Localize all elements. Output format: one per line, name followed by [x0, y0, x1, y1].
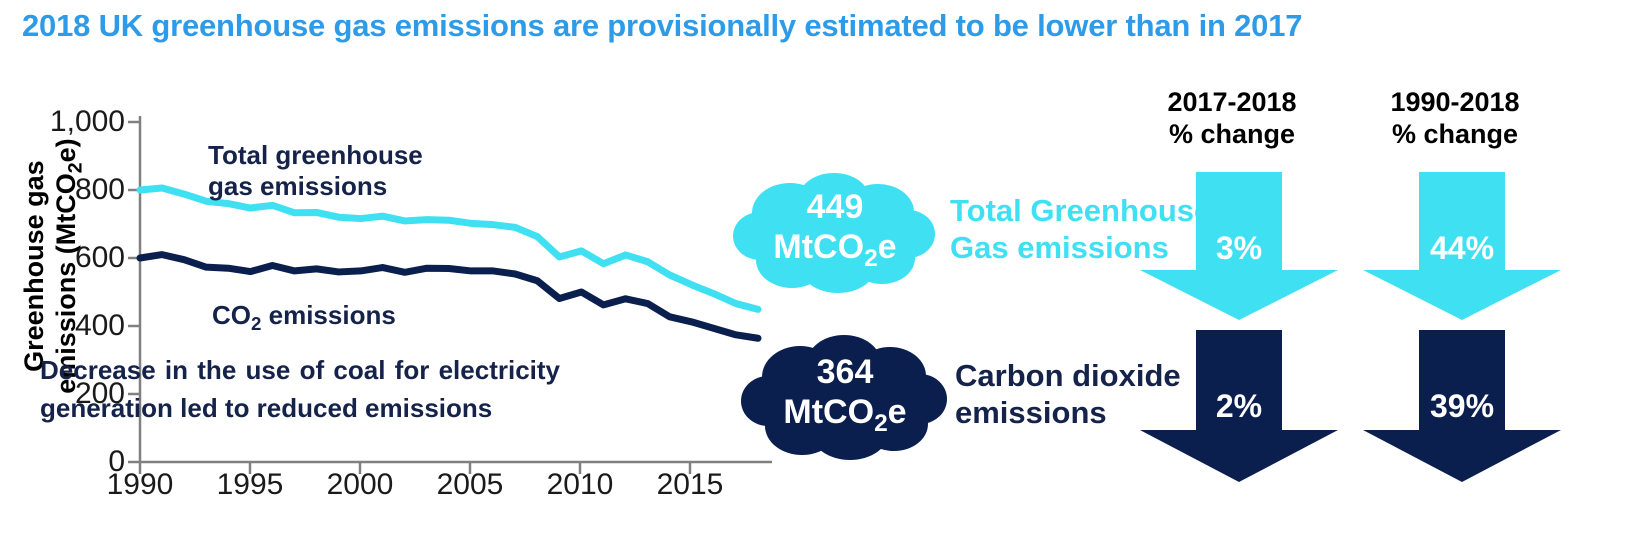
cloud-total-ghg: 449 MtCO2e: [730, 168, 940, 293]
x-tick-2010: 2010: [547, 468, 614, 502]
cloud-caption-co2-l2: emissions: [955, 395, 1107, 430]
x-tick-1990: 1990: [107, 468, 174, 502]
series-label-total-ghg: Total greenhouse gas emissions: [208, 140, 423, 202]
column-header-2017-2018: 2017-2018 % change: [1122, 86, 1342, 151]
column-header-1990-2018-l1: 1990-2018: [1390, 87, 1519, 117]
series-label-total-ghg-l1: Total greenhouse: [208, 140, 423, 170]
page-title: 2018 UK greenhouse gas emissions are pro…: [22, 8, 1302, 44]
chart-annotation: Decrease in the use of coal for electric…: [40, 352, 560, 427]
series-label-total-ghg-l2: gas emissions: [208, 171, 387, 201]
down-arrow-icon: [1363, 330, 1561, 482]
down-arrow-icon: [1140, 330, 1338, 482]
arrow-co2-1990-2018: 39%: [1363, 330, 1561, 482]
arrow-ghg-2017-2018: 3%: [1140, 172, 1338, 320]
down-arrow-icon: [1140, 172, 1338, 320]
series-label-co2: CO2 emissions: [212, 300, 396, 336]
down-arrow-icon: [1363, 172, 1561, 320]
column-header-1990-2018-l2: % change: [1392, 119, 1518, 149]
arrow-co2-2017-2018: 2%: [1140, 330, 1338, 482]
x-tick-1995: 1995: [217, 468, 284, 502]
column-header-2017-2018-l1: 2017-2018: [1167, 87, 1296, 117]
series-line-total-ghg: [140, 188, 758, 309]
column-header-2017-2018-l2: % change: [1169, 119, 1295, 149]
column-header-1990-2018: 1990-2018 % change: [1345, 86, 1565, 151]
cloud-shape-cyan: [730, 168, 940, 293]
x-tick-2000: 2000: [327, 468, 394, 502]
emissions-line-chart: Greenhouse gas emissions (MtCO2e) 1,000 …: [0, 82, 800, 556]
cloud-caption-total-ghg-l2: Gas emissions: [950, 230, 1169, 265]
x-tick-2015: 2015: [657, 468, 724, 502]
cloud-shape-navy: [740, 330, 950, 460]
cloud-co2: 364 MtCO2e: [740, 330, 950, 460]
x-tick-2005: 2005: [437, 468, 504, 502]
arrow-ghg-1990-2018: 44%: [1363, 172, 1561, 320]
